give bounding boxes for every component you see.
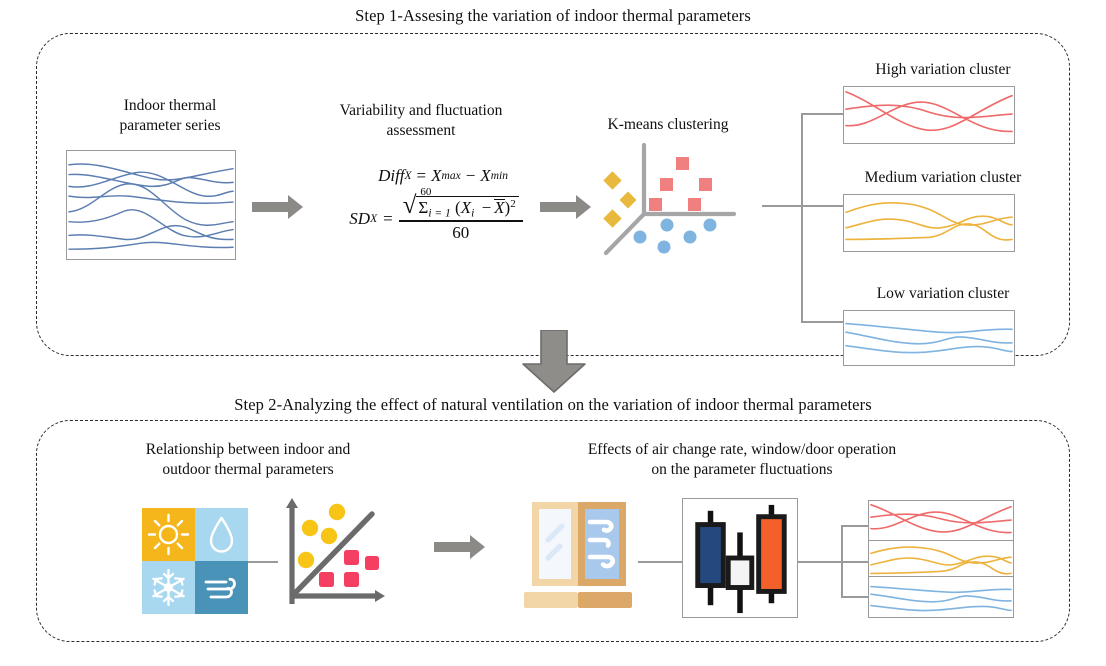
bracket-branch-medium [801, 205, 843, 207]
step1-heading: Step 1-Assesing the variation of indoor … [0, 7, 1106, 26]
window-right-pane [585, 509, 619, 579]
formula-sd-sum-upper: 60 [420, 186, 431, 198]
bracket-branch-low [801, 321, 843, 323]
weather-tile-wind [195, 561, 248, 614]
formula-sd-lhs-sub: X [370, 213, 377, 225]
step2-heading: Step 2-Analyzing the effect of natural v… [0, 396, 1106, 415]
assessment-caption: Variability and fluctuation assessment [296, 101, 546, 141]
arrow-scatter-to-ventilation [434, 534, 486, 560]
assessment-caption-line2: assessment [296, 121, 546, 141]
relationship-caption: Relationship between indoor and outdoor … [98, 440, 398, 480]
cluster-lines-low [844, 311, 1014, 365]
formula-diff-t1-sub: max [442, 170, 461, 182]
connector-window-to-candles [638, 561, 682, 563]
formula-diff-minus: − [461, 166, 481, 186]
indoor-series-caption-line1: Indoor thermal [62, 96, 278, 116]
indoor-series-caption-line2: parameter series [62, 116, 278, 136]
formula-sd-eq: = [377, 209, 399, 229]
assessment-caption-line1: Variability and fluctuation [296, 101, 546, 121]
bracket-branch-high [801, 113, 843, 115]
kmeans-yellow-diamonds [603, 171, 636, 227]
candlestick-chart [683, 499, 797, 617]
cluster-box-high [843, 86, 1015, 144]
effects-caption: Effects of air change rate, window/door … [512, 440, 972, 480]
candlestick-chart-box [682, 498, 798, 618]
window-left-glass [539, 509, 571, 579]
result-chart-high [868, 500, 1014, 542]
arrow-assessment-to-kmeans [540, 194, 592, 220]
bracket-stem-step1 [762, 205, 802, 207]
bracket-branch-result-low [841, 596, 869, 598]
radical-sign-icon: √ [403, 196, 417, 219]
formula-sd-radical: √ 60 Σi = 1 (Xi −X)2 [403, 196, 519, 219]
cluster-lines-medium [844, 195, 1014, 251]
weather-tile-cold [142, 561, 195, 614]
sun-icon [142, 508, 195, 561]
formula-sd-xbar: X [494, 199, 504, 216]
candle-white [728, 532, 752, 613]
scatter-yellow-points [298, 504, 345, 568]
arrow-series-to-assessment [252, 194, 304, 220]
arrow-step1-to-step2 [521, 330, 587, 394]
formula-sd-numerator: √ 60 Σi = 1 (Xi −X)2 [399, 196, 523, 220]
cluster-box-low [843, 310, 1015, 366]
bracket-spine-step1 [801, 113, 803, 323]
result-lines-medium [869, 541, 1013, 581]
formula-sd-xi-sub: i [471, 207, 474, 219]
window-door-icon [518, 500, 640, 610]
formula-sd-xi: X [461, 198, 471, 217]
result-lines-high [869, 501, 1013, 541]
kmeans-red-squares [649, 157, 712, 211]
kmeans-caption: K-means clustering [588, 115, 748, 135]
bracket-branch-result-medium [841, 561, 869, 563]
weather-tile-sun [142, 508, 195, 561]
result-chart-low [868, 576, 1014, 618]
snowflake-icon [142, 561, 195, 614]
connector-candles-to-bracket [798, 561, 842, 563]
formula-diff-t1: X [431, 166, 441, 186]
formula-diff: DiffX = Xmax − Xmin [318, 166, 568, 186]
relationship-caption-line2: outdoor thermal parameters [98, 460, 398, 480]
formula-sd-lhs: SD [349, 209, 370, 229]
kmeans-blue-circles [634, 219, 717, 254]
window-sill-left [524, 592, 578, 608]
formula-diff-lhs: Diff [378, 166, 404, 186]
effects-caption-line2: on the parameter fluctuations [512, 460, 972, 480]
indoor-series-box [66, 150, 236, 260]
formula-sd-minus: − [479, 198, 495, 217]
candle-orange [759, 505, 785, 603]
kmeans-scatter-3d [592, 140, 764, 265]
cluster-label-medium: Medium variation cluster [828, 168, 1058, 188]
cluster-box-medium [843, 194, 1015, 252]
formula-sd-fraction: √ 60 Σi = 1 (Xi −X)2 60 [399, 196, 523, 243]
formula-diff-eq: = [412, 166, 432, 186]
cluster-label-low: Low variation cluster [828, 284, 1058, 304]
water-drop-icon [195, 508, 248, 561]
formula-sd-denominator: 60 [448, 222, 473, 243]
formula-diff-t2: X [480, 166, 490, 186]
formula-sd-sum-lower: i = 1 [428, 207, 450, 219]
cluster-label-high: High variation cluster [828, 60, 1058, 80]
weather-icon-grid [142, 508, 248, 614]
indoor-series-caption: Indoor thermal parameter series [62, 96, 278, 136]
result-lines-low [869, 577, 1013, 617]
effects-caption-line1: Effects of air change rate, window/door … [512, 440, 972, 460]
formula-sd-power: 2 [510, 198, 516, 210]
relationship-caption-line1: Relationship between indoor and [98, 440, 398, 460]
indoor-outdoor-scatter [272, 492, 394, 618]
formula-sd: SDX = √ 60 Σi = 1 (Xi −X)2 60 [300, 196, 572, 243]
candle-blue [698, 511, 724, 605]
formula-sd-sum-symbol: Σ [418, 198, 428, 217]
weather-tile-humidity [195, 508, 248, 561]
cluster-lines-high [844, 87, 1014, 143]
window-sill-right [578, 592, 632, 608]
bracket-branch-result-high [841, 525, 869, 527]
wind-icon [195, 561, 248, 614]
formula-diff-t2-sub: min [491, 170, 508, 182]
indoor-series-lines [67, 151, 235, 259]
formula-diff-lhs-sub: X [405, 170, 412, 182]
